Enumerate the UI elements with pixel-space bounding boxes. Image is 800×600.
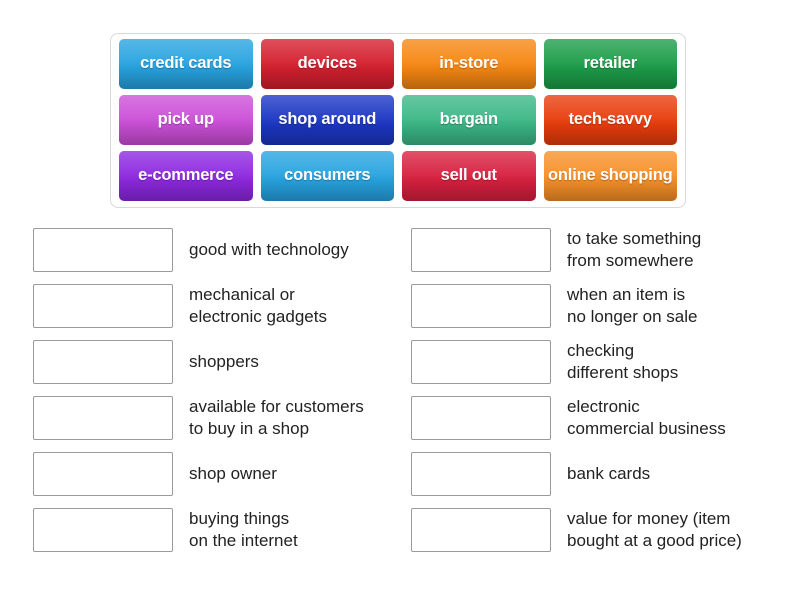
definition-text: electronic commercial business [567,396,726,439]
answer-drop-slot[interactable] [411,396,551,440]
answer-drop-slot[interactable] [411,284,551,328]
definition-text: bank cards [567,463,650,485]
answer-row: good with technology [33,228,408,272]
answer-drop-slot[interactable] [411,452,551,496]
answer-row: buying things on the internet [33,508,408,552]
word-tile-label: credit cards [140,55,231,73]
answer-drop-slot[interactable] [33,452,173,496]
word-tile[interactable]: e-commerce [119,151,253,201]
word-tile[interactable]: devices [261,39,395,89]
answer-row: checking different shops [411,340,786,384]
word-tile-label: sell out [441,167,497,185]
answer-drop-slot[interactable] [411,228,551,272]
word-tile[interactable]: bargain [402,95,536,145]
answer-row: available for customers to buy in a shop [33,396,408,440]
word-tile[interactable]: shop around [261,95,395,145]
word-tile[interactable]: credit cards [119,39,253,89]
answer-row: electronic commercial business [411,396,786,440]
answer-drop-slot[interactable] [411,508,551,552]
definition-text: when an item is no longer on sale [567,284,697,327]
word-tile-label: bargain [440,111,498,129]
answer-drop-slot[interactable] [411,340,551,384]
word-tile-label: devices [298,55,357,73]
definition-text: shoppers [189,351,259,373]
tile-row: e-commerceconsumerssell outonline shoppi… [115,151,681,201]
answer-row: when an item is no longer on sale [411,284,786,328]
answer-drop-slot[interactable] [33,228,173,272]
answer-row: bank cards [411,452,786,496]
definition-text: to take something from somewhere [567,228,701,271]
answer-column-right: to take something from somewherewhen an … [411,228,786,564]
word-tile[interactable]: online shopping [544,151,678,201]
answer-row: value for money (item bought at a good p… [411,508,786,552]
answer-drop-slot[interactable] [33,284,173,328]
word-tile-label: pick up [158,111,214,129]
definition-text: available for customers to buy in a shop [189,396,364,439]
definition-text: checking different shops [567,340,678,383]
word-tile[interactable]: pick up [119,95,253,145]
word-tile-label: e-commerce [138,167,233,185]
word-tile-label: online shopping [548,167,672,185]
word-tile-label: retailer [584,55,637,73]
word-tile-label: consumers [284,167,370,185]
word-tile[interactable]: in-store [402,39,536,89]
word-tile[interactable]: sell out [402,151,536,201]
answer-column-left: good with technologymechanical or electr… [33,228,408,564]
tile-row: pick upshop aroundbargaintech-savvy [115,95,681,145]
tile-row: credit cardsdevicesin-storeretailer [115,39,681,89]
answer-row: to take something from somewhere [411,228,786,272]
answer-drop-slot[interactable] [33,396,173,440]
word-tile[interactable]: retailer [544,39,678,89]
definition-text: good with technology [189,239,349,261]
answer-row: mechanical or electronic gadgets [33,284,408,328]
answer-drop-slot[interactable] [33,340,173,384]
word-tile[interactable]: consumers [261,151,395,201]
word-tile-bank: credit cardsdevicesin-storeretailerpick … [110,33,686,208]
word-tile[interactable]: tech-savvy [544,95,678,145]
definition-text: buying things on the internet [189,508,298,551]
word-tile-label: shop around [278,111,376,129]
answer-drop-slot[interactable] [33,508,173,552]
definition-text: value for money (item bought at a good p… [567,508,742,551]
answer-row: shop owner [33,452,408,496]
definition-text: shop owner [189,463,277,485]
word-tile-label: tech-savvy [569,111,652,129]
word-tile-label: in-store [439,55,498,73]
definition-text: mechanical or electronic gadgets [189,284,327,327]
answer-row: shoppers [33,340,408,384]
